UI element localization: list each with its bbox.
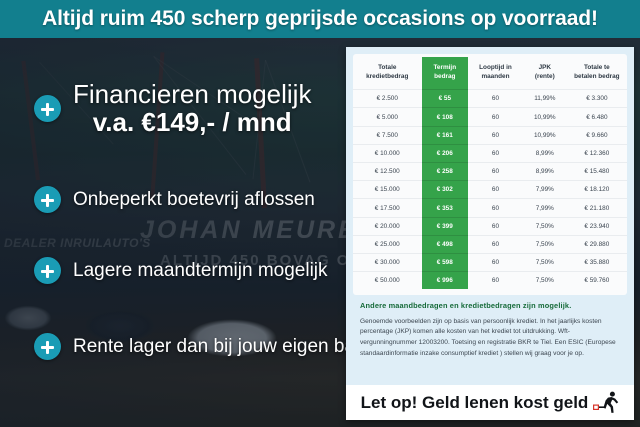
table-cell: € 59.760: [567, 272, 627, 290]
table-row: € 20.000€ 399607,50%€ 23.940: [353, 217, 627, 235]
table-cell: 60: [468, 253, 523, 271]
warning-bar: Let op! Geld lenen kost geld: [346, 385, 634, 420]
table-cell: 7,99%: [523, 181, 567, 199]
table-column-header: Termijnbedrag: [422, 57, 469, 90]
table-cell: € 996: [422, 272, 469, 290]
running-man-debt-icon: [593, 391, 619, 415]
table-column-header: Looptijd inmaanden: [468, 57, 523, 90]
promo-banner: Altijd ruim 450 scherp geprijsde occasio…: [0, 0, 640, 38]
table-cell: 60: [468, 163, 523, 181]
table-cell: 7,99%: [523, 199, 567, 217]
table-cell: € 161: [422, 126, 469, 144]
table-row: € 30.000€ 598607,50%€ 35.880: [353, 253, 627, 271]
table-column-header: Totalekredietbedrag: [353, 57, 422, 90]
table-column-header: JPK(rente): [523, 57, 567, 90]
table-cell: € 399: [422, 217, 469, 235]
table-cell: 60: [468, 144, 523, 162]
table-cell: € 29.880: [567, 235, 627, 253]
table-cell: € 7.500: [353, 126, 422, 144]
table-row: € 15.000€ 302607,99%€ 18.120: [353, 181, 627, 199]
finance-info-card: TotalekredietbedragTermijnbedragLooptijd…: [346, 47, 634, 420]
list-item: Onbeperkt boetevrij aflossen: [34, 186, 315, 213]
table-cell: € 17.500: [353, 199, 422, 217]
table-cell: 60: [468, 199, 523, 217]
table-cell: 8,99%: [523, 144, 567, 162]
table-cell: € 9.660: [567, 126, 627, 144]
table-cell: 10,99%: [523, 108, 567, 126]
table-row: € 5.000€ 1086010,99%€ 6.480: [353, 108, 627, 126]
table-cell: € 15.000: [353, 181, 422, 199]
table-cell: € 12.360: [567, 144, 627, 162]
finance-table-panel: TotalekredietbedragTermijnbedragLooptijd…: [353, 54, 627, 295]
footer-disclaimer-text: Genoemde voorbeelden zijn op basis van p…: [360, 317, 620, 360]
table-cell: € 353: [422, 199, 469, 217]
table-cell: 11,99%: [523, 90, 567, 108]
banner-title: Altijd ruim 450 scherp geprijsde occasio…: [42, 7, 598, 31]
table-cell: € 3.300: [567, 90, 627, 108]
plus-circle-icon: [34, 333, 61, 360]
footer-heading: Andere maandbedragen en kredietbedragen …: [360, 301, 620, 311]
table-cell: 7,50%: [523, 272, 567, 290]
benefit-text-stack: Financieren mogelijk v.a. €149,- / mnd: [73, 80, 311, 138]
table-cell: 8,99%: [523, 163, 567, 181]
table-row: € 2.500€ 556011,99%€ 3.300: [353, 90, 627, 108]
benefit-price-label: v.a. €149,- / mnd: [73, 108, 311, 138]
plus-circle-icon: [34, 257, 61, 284]
warning-text: Let op! Geld lenen kost geld: [361, 393, 589, 413]
table-cell: 60: [468, 217, 523, 235]
table-cell: € 302: [422, 181, 469, 199]
plus-circle-icon: [34, 95, 61, 122]
card-footer: Andere maandbedragen en kredietbedragen …: [346, 295, 634, 359]
table-row: € 10.000€ 206608,99%€ 12.360: [353, 144, 627, 162]
table-head: TotalekredietbedragTermijnbedragLooptijd…: [353, 57, 627, 90]
table-cell: 7,50%: [523, 253, 567, 271]
table-cell: 7,50%: [523, 235, 567, 253]
table-header-row: TotalekredietbedragTermijnbedragLooptijd…: [353, 57, 627, 90]
list-item: Financieren mogelijk v.a. €149,- / mnd: [34, 80, 311, 138]
table-cell: € 30.000: [353, 253, 422, 271]
finance-table: TotalekredietbedragTermijnbedragLooptijd…: [353, 57, 627, 289]
table-column-header: Totale tebetalen bedrag: [567, 57, 627, 90]
table-cell: € 108: [422, 108, 469, 126]
table-cell: € 6.480: [567, 108, 627, 126]
benefit-label: Financieren mogelijk: [73, 80, 311, 108]
table-row: € 50.000€ 996607,50%€ 59.760: [353, 272, 627, 290]
table-cell: 60: [468, 181, 523, 199]
table-cell: 60: [468, 90, 523, 108]
list-item: Lagere maandtermijn mogelijk: [34, 257, 328, 284]
plus-circle-icon: [34, 186, 61, 213]
table-cell: 60: [468, 108, 523, 126]
table-cell: € 55: [422, 90, 469, 108]
list-item: Rente lager dan bij jouw eigen bank: [34, 333, 375, 360]
table-cell: 60: [468, 126, 523, 144]
table-cell: 10,99%: [523, 126, 567, 144]
table-cell: 60: [468, 272, 523, 290]
table-cell: € 258: [422, 163, 469, 181]
table-cell: € 18.120: [567, 181, 627, 199]
table-row: € 7.500€ 1616010,99%€ 9.660: [353, 126, 627, 144]
table-cell: € 21.180: [567, 199, 627, 217]
table-cell: € 2.500: [353, 90, 422, 108]
table-row: € 25.000€ 498607,50%€ 29.880: [353, 235, 627, 253]
table-cell: € 10.000: [353, 144, 422, 162]
table-cell: € 23.940: [567, 217, 627, 235]
table-cell: € 15.480: [567, 163, 627, 181]
table-cell: € 498: [422, 235, 469, 253]
table-cell: € 598: [422, 253, 469, 271]
table-cell: € 20.000: [353, 217, 422, 235]
table-cell: € 25.000: [353, 235, 422, 253]
table-cell: € 5.000: [353, 108, 422, 126]
benefit-label: Rente lager dan bij jouw eigen bank: [73, 336, 375, 358]
table-row: € 12.500€ 258608,99%€ 15.480: [353, 163, 627, 181]
table-cell: 7,50%: [523, 217, 567, 235]
table-cell: 60: [468, 235, 523, 253]
table-cell: € 206: [422, 144, 469, 162]
table-row: € 17.500€ 353607,99%€ 21.180: [353, 199, 627, 217]
table-cell: € 12.500: [353, 163, 422, 181]
table-cell: € 35.880: [567, 253, 627, 271]
benefit-label: Onbeperkt boetevrij aflossen: [73, 189, 315, 211]
table-cell: € 50.000: [353, 272, 422, 290]
benefits-list: Financieren mogelijk v.a. €149,- / mnd O…: [0, 44, 345, 424]
table-body: € 2.500€ 556011,99%€ 3.300€ 5.000€ 10860…: [353, 90, 627, 290]
benefit-label: Lagere maandtermijn mogelijk: [73, 260, 328, 282]
